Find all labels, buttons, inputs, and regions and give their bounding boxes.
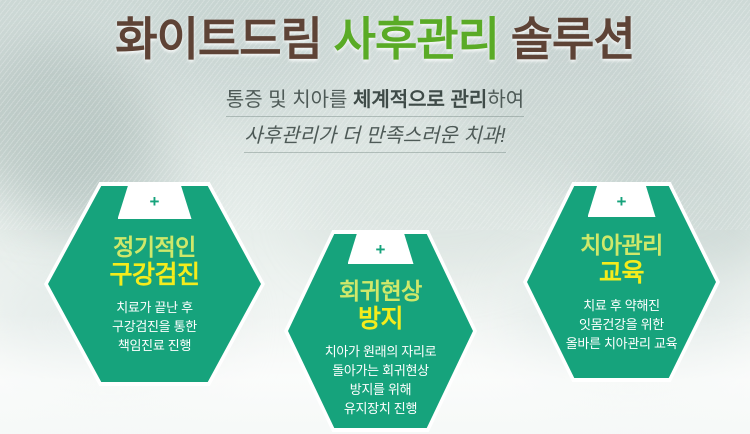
card-description-line: 잇몸건강을 위한 [527,316,716,335]
subtitle-line-1-prefix: 통증 및 치아를 [226,89,353,111]
page-subtitle: 통증 및 치아를 체계적으로 관리하여 사후관리가 더 만족스러운 치과! [0,90,750,162]
card-description: 치료가 끝난 후 구강검진을 통한 책임진료 진행 [48,299,261,356]
card-description-line: 치아가 원래의 자리로 [288,343,473,362]
card-content: 정기적인 구강검진 치료가 끝난 후 구강검진을 통한 책임진료 진행 [48,234,261,356]
card-description-line: 올바른 치아관리 교육 [527,335,716,354]
card-heading-line-1: 치아관리 [527,232,716,258]
promo-banner: 화이트드림 사후관리 솔루션 통증 및 치아를 체계적으로 관리하여 사후관리가… [0,0,750,434]
plus-icon: + [150,193,160,210]
title-part-1: 화이트드림 [115,13,322,65]
card-heading-line-2: 방지 [288,305,473,334]
plus-icon: + [617,193,627,210]
card-heading-line-1: 회귀현상 [288,278,473,304]
card-heading-line-2: 교육 [527,259,716,288]
card-description-line: 책임진료 진행 [48,337,261,356]
subtitle-line-1: 통증 및 치아를 체계적으로 관리하여 [226,90,524,117]
card-description-line: 유지장치 진행 [288,400,473,419]
card-description-line: 치료 후 약해진 [527,297,716,316]
page-title: 화이트드림 사후관리 솔루션 [0,14,750,66]
card-description: 치아가 원래의 자리로 돌아가는 회귀현상 방지를 위해 유지장치 진행 [288,343,473,418]
feature-card-regular-checkup[interactable]: + 정기적인 구강검진 치료가 끝난 후 구강검진을 통한 책임진료 진행 [48,186,261,382]
card-description-line: 돌아가는 회귀현상 [288,362,473,381]
card-content: 치아관리 교육 치료 후 약해진 잇몸건강을 위한 올바른 치아관리 교육 [527,232,716,354]
feature-card-dental-care-education[interactable]: + 치아관리 교육 치료 후 약해진 잇몸건강을 위한 올바른 치아관리 교육 [527,186,716,378]
card-notch: + [588,186,656,217]
plus-icon: + [376,241,386,258]
card-notch: + [118,186,192,219]
subtitle-line-1-suffix: 하여 [487,89,524,111]
card-heading-line-1: 정기적인 [48,234,261,260]
feature-card-relapse-prevention[interactable]: + 회귀현상 방지 치아가 원래의 자리로 돌아가는 회귀현상 방지를 위해 유… [288,234,473,428]
card-heading-line-2: 구강검진 [48,261,261,290]
title-part-3: 솔루션 [511,13,635,65]
card-description-line: 치료가 끝난 후 [48,299,261,318]
card-description-line: 방지를 위해 [288,381,473,400]
card-content: 회귀현상 방지 치아가 원래의 자리로 돌아가는 회귀현상 방지를 위해 유지장… [288,278,473,419]
subtitle-line-1-emphasis: 체계적으로 관리 [353,89,487,111]
title-part-2: 사후관리 [334,13,499,65]
card-description: 치료 후 약해진 잇몸건강을 위한 올바른 치아관리 교육 [527,297,716,354]
card-notch: + [348,234,414,264]
card-description-line: 구강검진을 통한 [48,318,261,337]
subtitle-line-2: 사후관리가 더 만족스러운 치과! [244,126,505,153]
